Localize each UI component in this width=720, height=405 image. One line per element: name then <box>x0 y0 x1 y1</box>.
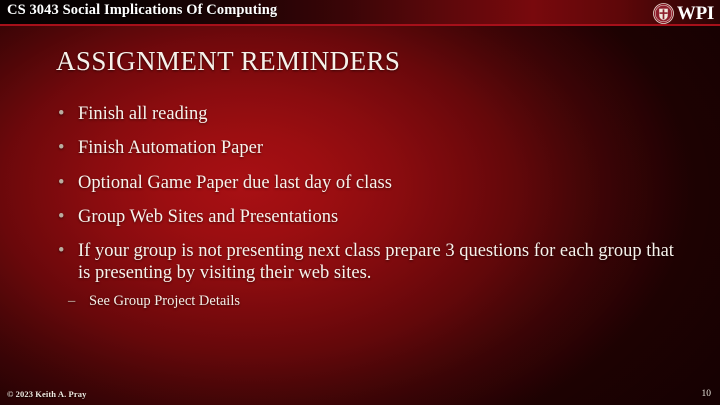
list-item: • If your group is not presenting next c… <box>56 241 676 285</box>
list-item: • Finish Automation Paper <box>56 138 676 160</box>
list-item: • Group Web Sites and Presentations <box>56 207 676 229</box>
bullet-marker-icon: • <box>58 241 64 263</box>
list-item-text: If your group is not presenting next cla… <box>78 241 674 283</box>
slide-page-number: 10 <box>702 389 712 399</box>
course-title: CS 3043 Social Implications Of Computing <box>7 2 277 19</box>
dash-marker-icon: – <box>68 293 75 310</box>
list-item-text: Finish all reading <box>78 104 207 124</box>
list-item: • Finish all reading <box>56 104 676 126</box>
bullet-list: • Finish all reading • Finish Automation… <box>56 104 676 310</box>
bullet-marker-icon: • <box>58 104 64 126</box>
wpi-wordmark: WPI <box>677 4 714 23</box>
footer-copyright: © 2023 Keith A. Pray <box>7 389 86 399</box>
list-item: • Optional Game Paper due last day of cl… <box>56 173 676 195</box>
list-item-text: Group Web Sites and Presentations <box>78 207 338 227</box>
wpi-logo: WPI <box>653 0 714 26</box>
list-item-text: Finish Automation Paper <box>78 138 263 158</box>
slide-header-bar: CS 3043 Social Implications Of Computing… <box>0 0 720 26</box>
bullet-marker-icon: • <box>58 138 64 160</box>
slide-title: ASSIGNMENT REMINDERS <box>56 46 400 77</box>
bullet-marker-icon: • <box>58 173 64 195</box>
sub-list-item: – See Group Project Details <box>56 293 676 310</box>
wpi-seal-icon <box>653 3 674 24</box>
presentation-slide: CS 3043 Social Implications Of Computing… <box>0 0 720 405</box>
sub-list-item-text: See Group Project Details <box>89 293 240 309</box>
bullet-marker-icon: • <box>58 207 64 229</box>
list-item-text: Optional Game Paper due last day of clas… <box>78 173 392 193</box>
